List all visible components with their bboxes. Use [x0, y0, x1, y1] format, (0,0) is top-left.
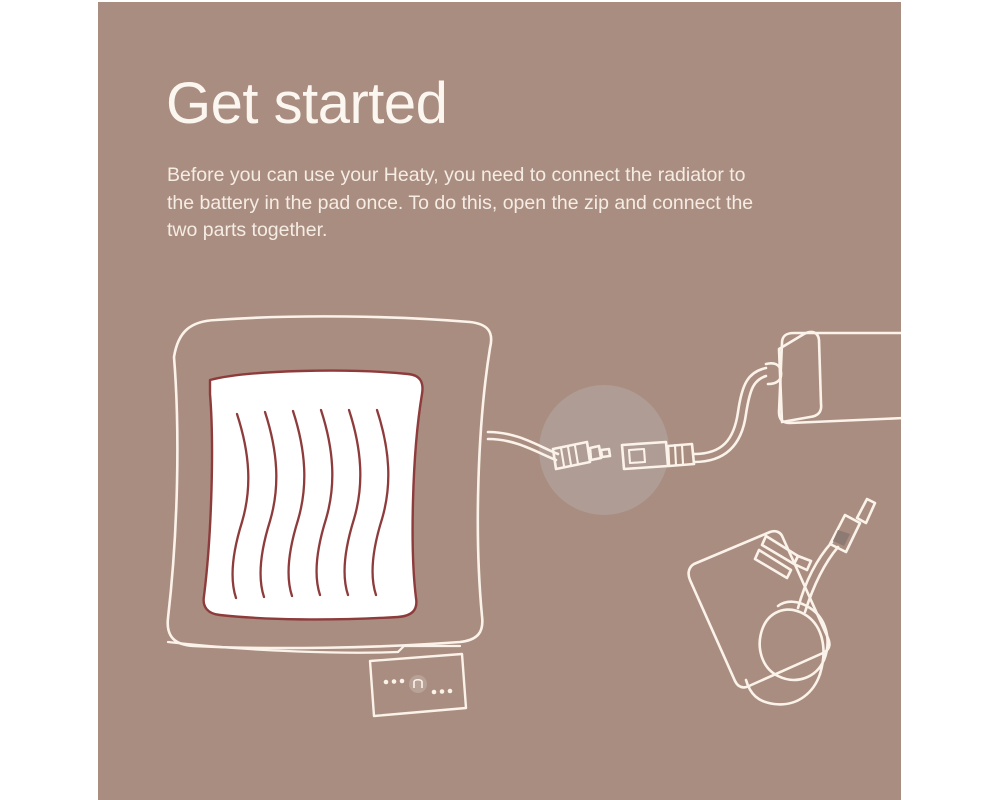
adapter-cable-tail-edge — [805, 547, 838, 612]
connector-socket-opening — [629, 449, 645, 463]
connection-highlight-circle — [539, 385, 669, 515]
brand-tag — [370, 654, 466, 716]
battery-pack — [779, 333, 901, 423]
connector-plug-male — [553, 442, 590, 469]
heating-wave-5 — [345, 410, 361, 595]
instruction-panel: Get started Before you can use your Heat… — [98, 2, 901, 800]
screenshot-root: Get started Before you can use your Heat… — [0, 0, 1000, 800]
adapter-cable-start — [746, 674, 820, 704]
heating-wave-4 — [317, 410, 333, 595]
adapter-barrel-connector — [830, 515, 860, 552]
connector-socket-grip — [668, 444, 694, 466]
brand-logo-glyph — [414, 680, 422, 688]
heating-wave-6 — [373, 410, 389, 595]
heating-element-pad — [204, 371, 423, 620]
page-title: Get started — [166, 74, 447, 135]
connector-plug-grip-ribs — [561, 446, 578, 466]
connector-plug-pin — [601, 449, 610, 457]
power-adapter — [689, 531, 830, 687]
heating-wave-2 — [261, 412, 277, 597]
brand-logo-icon — [409, 675, 427, 693]
connector-plug-collar — [590, 446, 601, 460]
pad-cable-edge — [488, 439, 556, 460]
brand-tag-dots-left — [384, 679, 405, 685]
pillow-zip-notch — [398, 646, 460, 652]
adapter-cable-tail — [798, 542, 832, 608]
battery-cable-edge — [694, 376, 766, 462]
adapter-cable-coil — [760, 602, 828, 680]
instruction-paragraph: Before you can use your Heaty, you need … — [167, 162, 767, 245]
adapter-prong-lower — [755, 550, 791, 578]
adapter-prong-upper — [762, 536, 798, 564]
battery-port — [766, 363, 781, 384]
battery-cable — [694, 368, 766, 454]
adapter-barrel-tip — [857, 499, 875, 523]
adapter-barrel-band — [833, 530, 850, 546]
adapter-prong-tip — [794, 556, 811, 570]
brand-tag-outline — [370, 654, 466, 716]
connector-socket-grip-ribs — [675, 445, 683, 465]
heating-wave-3 — [289, 411, 305, 596]
brand-tag-dots-right — [432, 689, 453, 695]
battery-pack-side — [779, 332, 821, 422]
pad-cable — [488, 432, 558, 454]
connector-socket-female — [622, 442, 668, 469]
pillow-zip-line — [168, 642, 398, 653]
pillow-cover-outline — [168, 316, 491, 648]
heating-wave-1 — [233, 414, 249, 598]
